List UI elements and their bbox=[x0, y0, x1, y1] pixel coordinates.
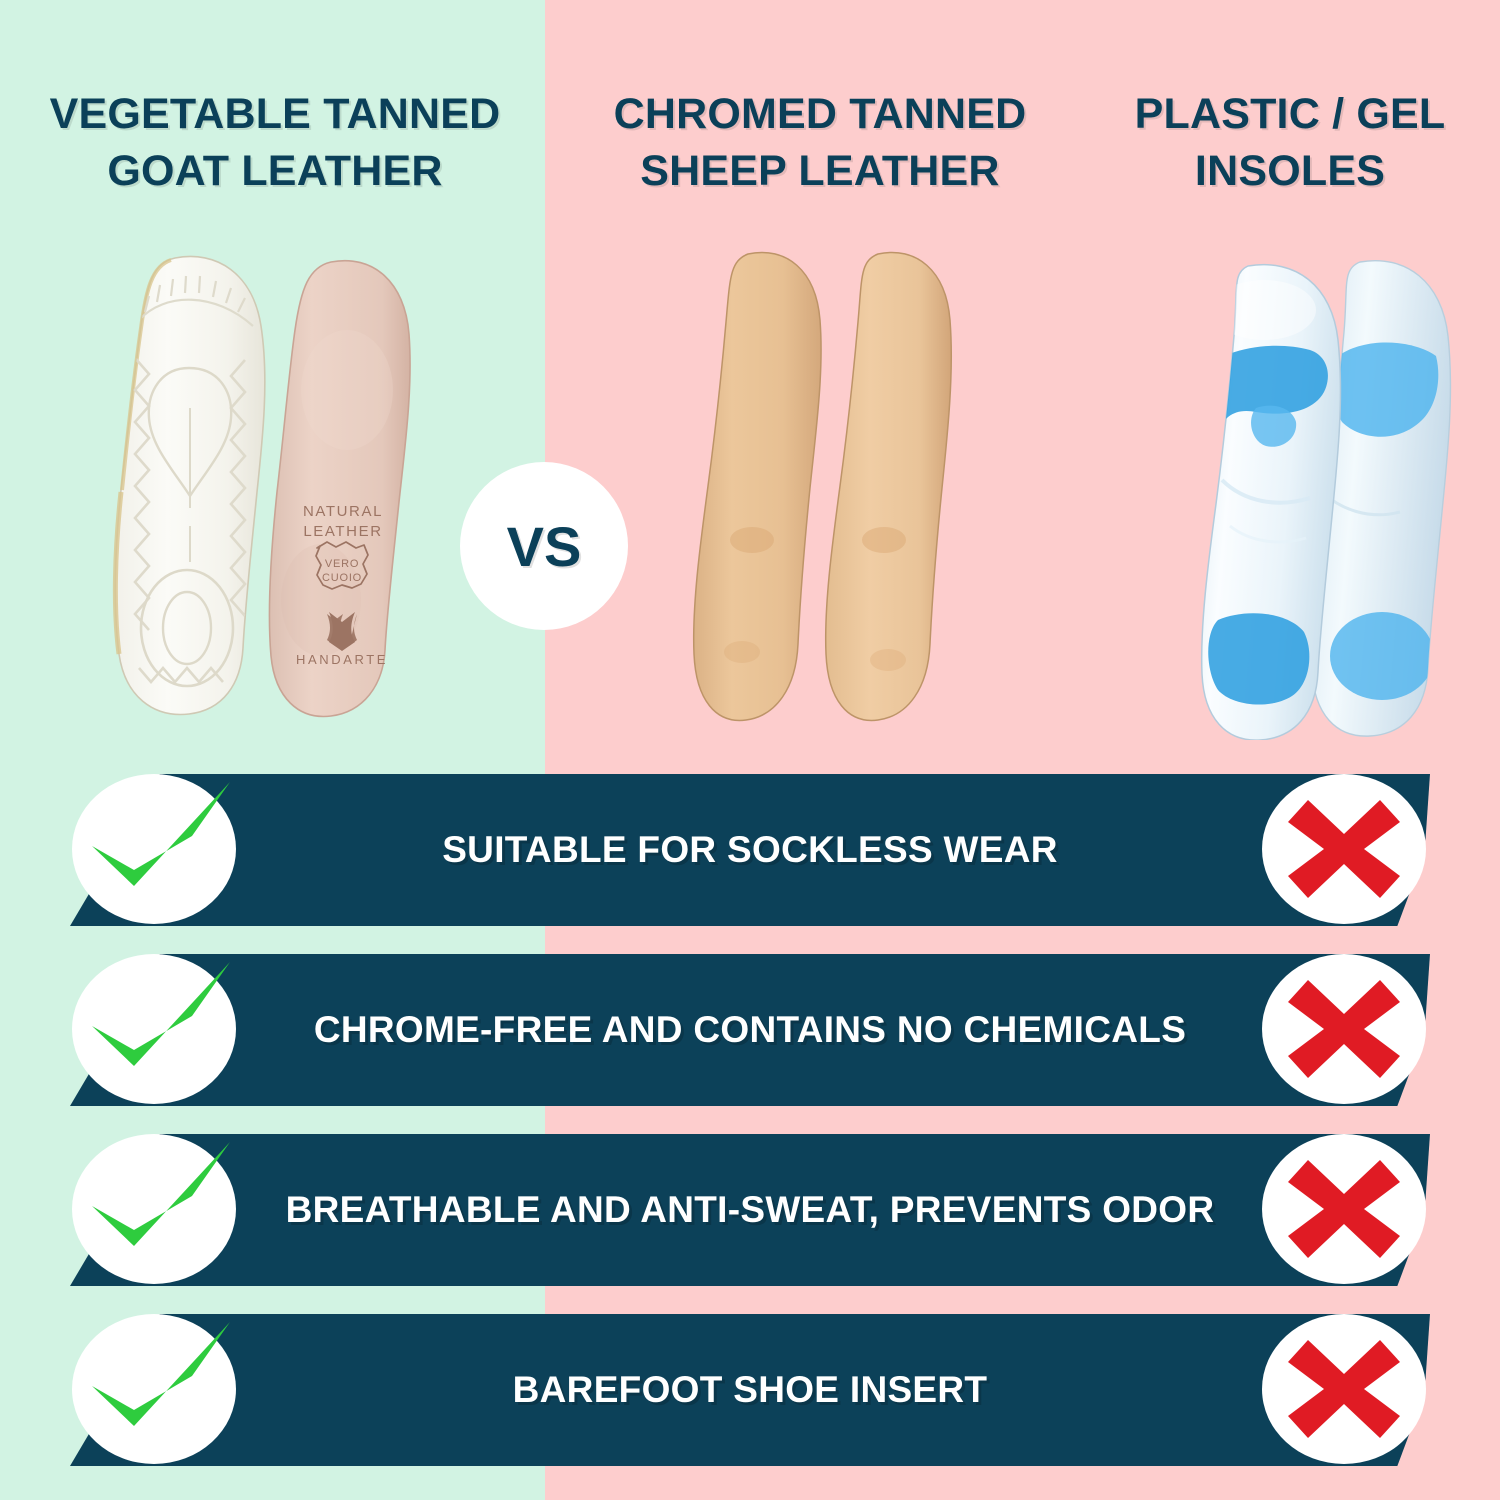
feature-row: BAREFOOT SHOE INSERT bbox=[0, 1300, 1500, 1480]
check-circle bbox=[72, 954, 236, 1104]
product-white-embossed-leather-insole: NATURAL LEATHER VERO CUOIO HANDARTE bbox=[95, 240, 425, 740]
check-circle bbox=[72, 1314, 236, 1464]
column-title-line: SHEEP LEATHER bbox=[560, 143, 1080, 200]
brand-stamp: HANDARTE bbox=[296, 652, 388, 667]
feature-label: SUITABLE FOR SOCKLESS WEAR bbox=[215, 774, 1285, 926]
cross-circle bbox=[1262, 954, 1426, 1104]
cross-icon bbox=[1262, 774, 1426, 924]
feature-label: BREATHABLE AND ANTI-SWEAT, PREVENTS ODOR bbox=[215, 1134, 1285, 1286]
svg-text:VERO: VERO bbox=[325, 558, 359, 570]
column-headings: VEGETABLE TANNED GOAT LEATHER CHROMED TA… bbox=[0, 0, 1500, 240]
check-icon bbox=[72, 774, 236, 924]
feature-row: CHROME-FREE AND CONTAINS NO CHEMICALS bbox=[0, 940, 1500, 1120]
insole-illustration-sheep-leather bbox=[690, 240, 960, 740]
feature-label: CHROME-FREE AND CONTAINS NO CHEMICALS bbox=[215, 954, 1285, 1106]
feature-row: SUITABLE FOR SOCKLESS WEAR bbox=[0, 760, 1500, 940]
column-title-vegetable-tanned-goat-leather: VEGETABLE TANNED GOAT LEATHER bbox=[15, 86, 535, 200]
product-gel-insole-pair bbox=[1160, 240, 1480, 740]
cross-icon bbox=[1262, 1314, 1426, 1464]
cross-circle bbox=[1262, 1134, 1426, 1284]
column-title-line: VEGETABLE TANNED bbox=[15, 86, 535, 143]
column-title-line: CHROMED TANNED bbox=[560, 86, 1080, 143]
svg-text:CUOIO: CUOIO bbox=[322, 572, 362, 584]
cross-icon bbox=[1262, 954, 1426, 1104]
tan-insole-left bbox=[694, 252, 821, 720]
natural-leather-insole: NATURAL LEATHER VERO CUOIO HANDARTE bbox=[269, 261, 410, 717]
embossed-white-insole bbox=[115, 256, 264, 714]
feature-label: BAREFOOT SHOE INSERT bbox=[215, 1314, 1285, 1466]
column-title-line: PLASTIC / GEL bbox=[1090, 86, 1490, 143]
cross-circle bbox=[1262, 774, 1426, 924]
svg-text:NATURAL: NATURAL bbox=[303, 503, 383, 520]
product-tan-leather-insole-pair bbox=[690, 240, 960, 740]
gel-insole-front bbox=[1188, 265, 1341, 740]
check-icon bbox=[72, 1314, 236, 1464]
insole-illustration-gel bbox=[1160, 240, 1480, 740]
feature-row: BREATHABLE AND ANTI-SWEAT, PREVENTS ODOR bbox=[0, 1120, 1500, 1300]
check-icon bbox=[72, 954, 236, 1104]
vs-label: VS bbox=[507, 514, 582, 579]
check-icon bbox=[72, 1134, 236, 1284]
check-circle bbox=[72, 774, 236, 924]
cross-circle bbox=[1262, 1314, 1426, 1464]
comparison-infographic: VEGETABLE TANNED GOAT LEATHER CHROMED TA… bbox=[0, 0, 1500, 1500]
product-image-row: NATURAL LEATHER VERO CUOIO HANDARTE bbox=[0, 240, 1500, 750]
column-title-line: INSOLES bbox=[1090, 143, 1490, 200]
column-title-plastic-gel-insoles: PLASTIC / GEL INSOLES bbox=[1090, 86, 1490, 200]
column-title-line: GOAT LEATHER bbox=[15, 143, 535, 200]
tan-insole-right bbox=[826, 252, 952, 720]
column-title-chromed-tanned-sheep-leather: CHROMED TANNED SHEEP LEATHER bbox=[560, 86, 1080, 200]
check-circle bbox=[72, 1134, 236, 1284]
vs-badge: VS bbox=[460, 462, 628, 630]
svg-text:LEATHER: LEATHER bbox=[303, 523, 382, 540]
cross-icon bbox=[1262, 1134, 1426, 1284]
insole-illustration-goat-leather: NATURAL LEATHER VERO CUOIO HANDARTE bbox=[95, 240, 425, 740]
